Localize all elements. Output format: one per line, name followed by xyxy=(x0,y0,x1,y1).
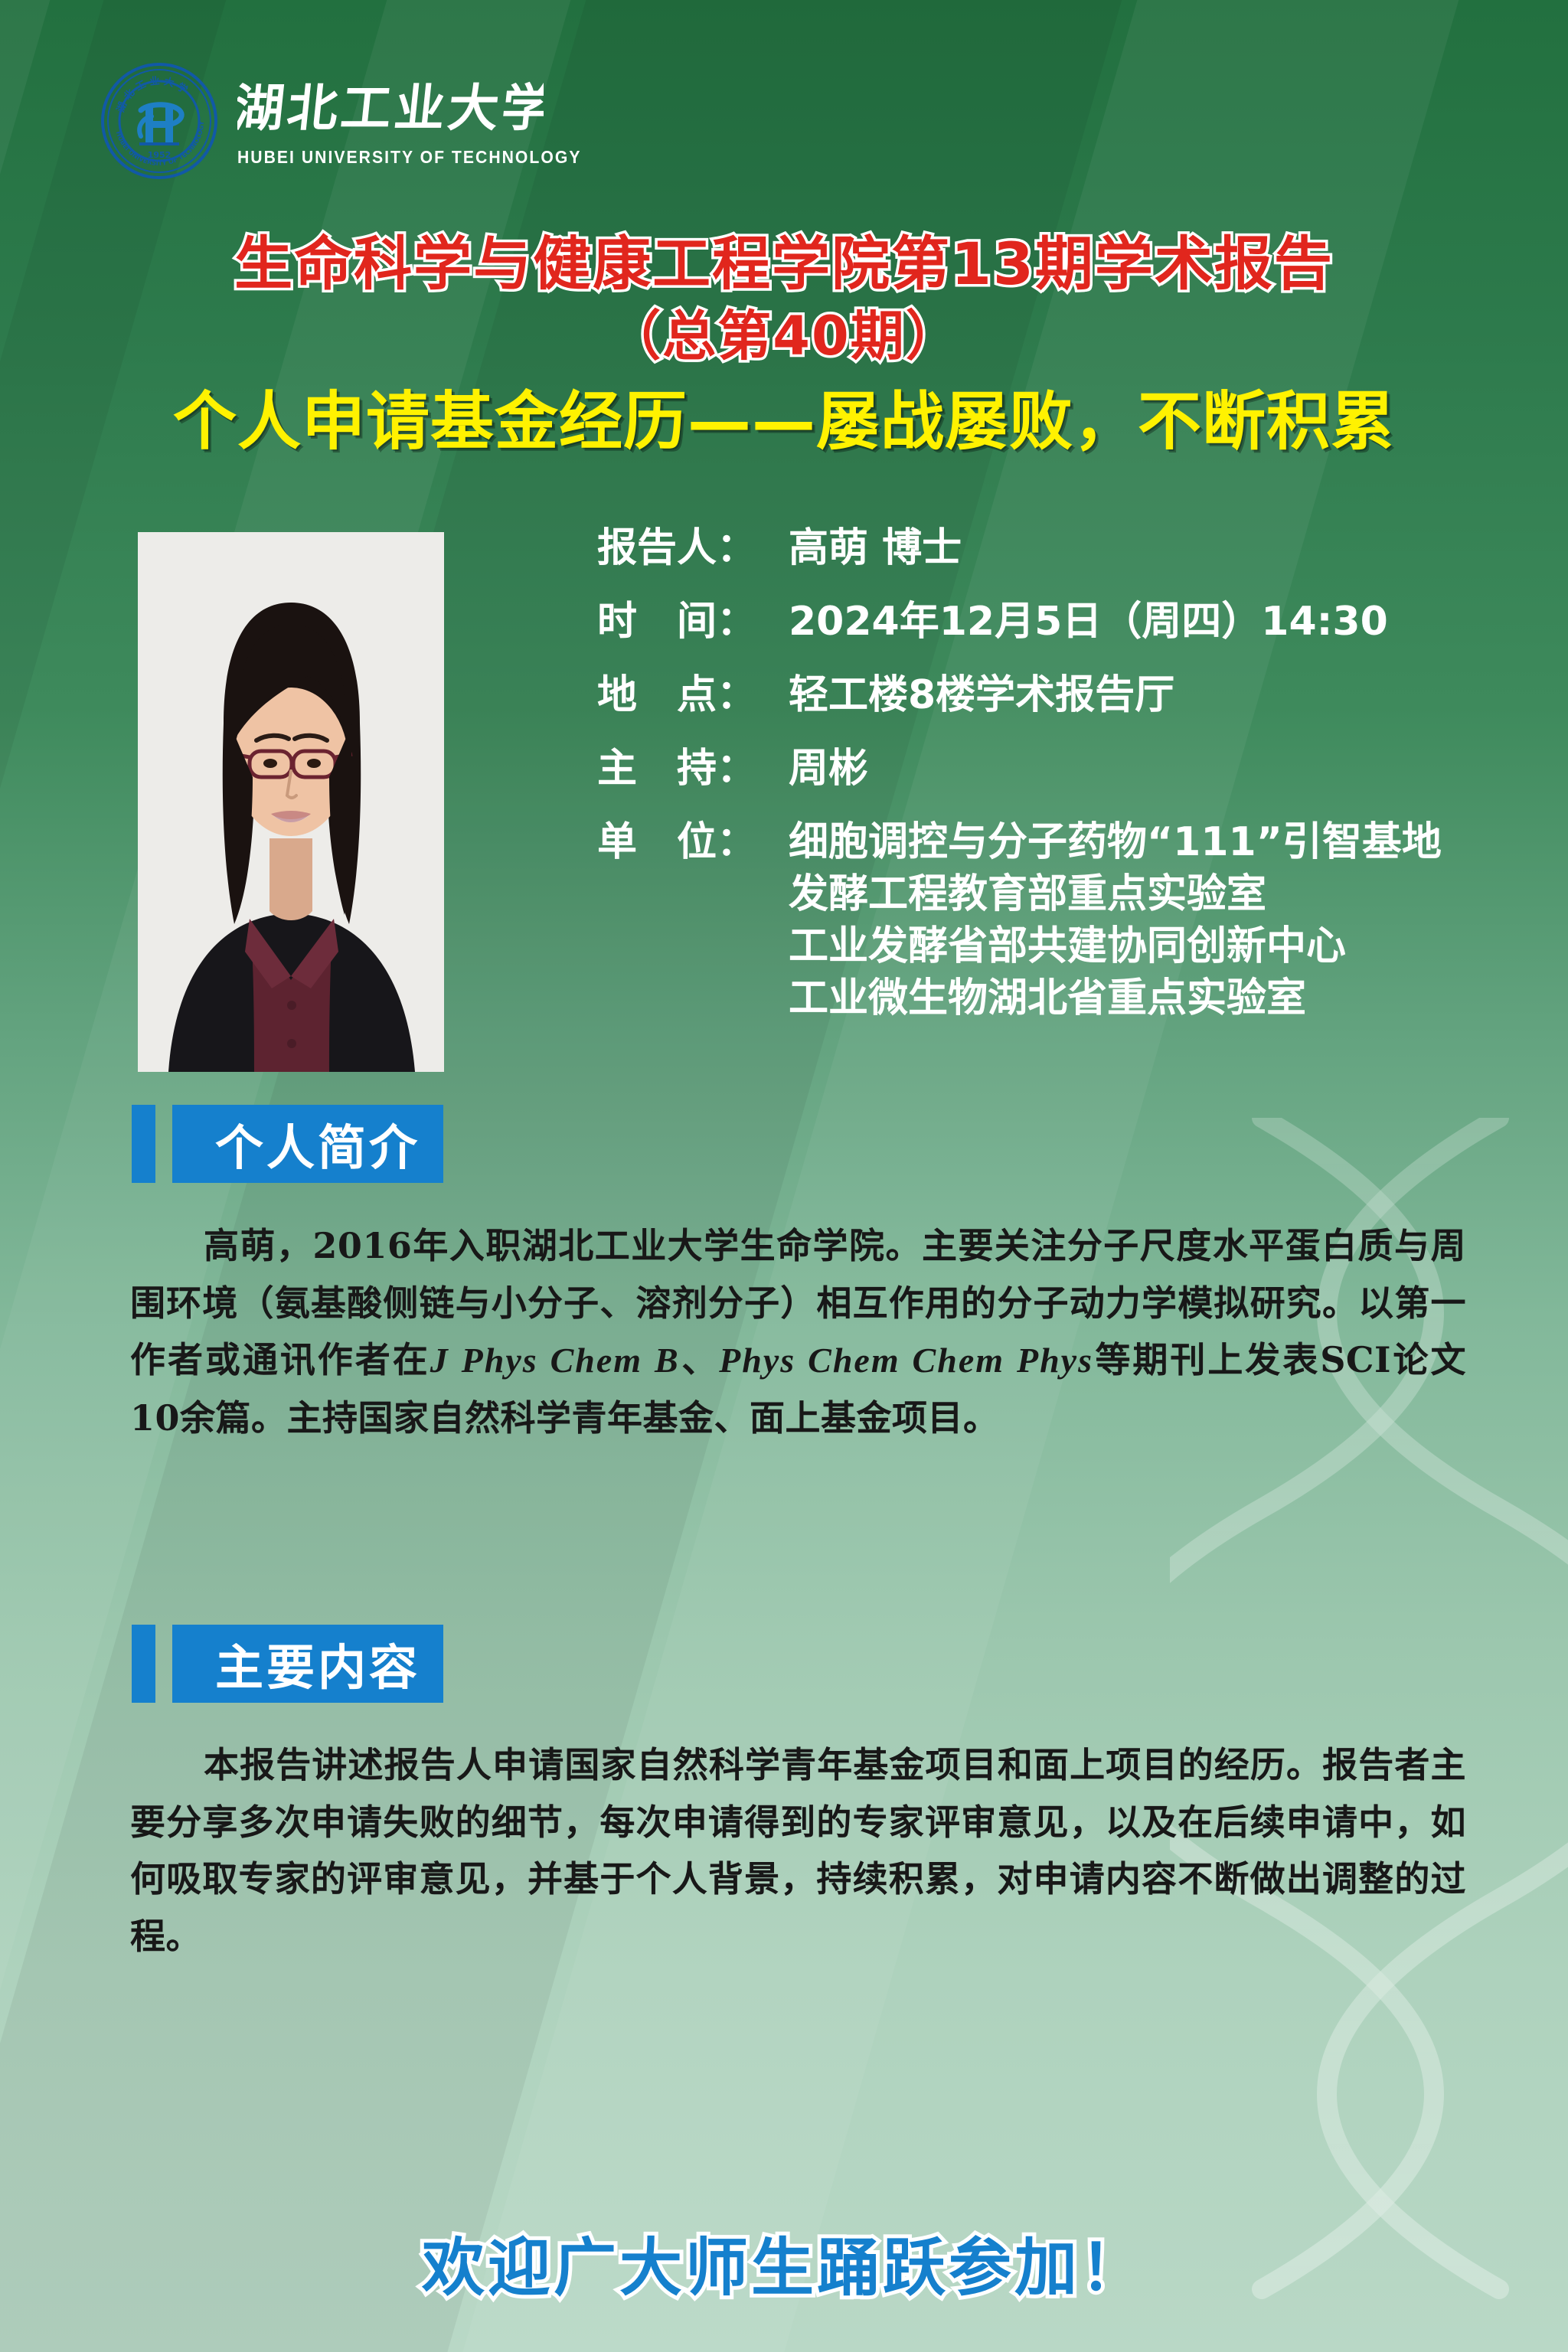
university-logo: 1952 HUBEI UNIVERSITY OF TECHNOLOGY 湖 北 … xyxy=(101,63,612,179)
event-details: 报告人： 高萌 博士 时 间： 2024年12月5日（周四）14:30 地 点：… xyxy=(597,528,1554,1018)
hubei-university-seal-icon: 1952 HUBEI UNIVERSITY OF TECHNOLOGY 湖 北 … xyxy=(101,63,217,179)
title-line-series: 生命科学与健康工程学院第13期学术报告 xyxy=(0,230,1568,299)
info-label-speaker: 报告人： xyxy=(597,528,789,568)
section-heading-box: 主要内容 xyxy=(172,1625,443,1703)
affiliation-line-1: 细胞调控与分子药物“111”引智基地 xyxy=(789,819,1442,865)
section-heading-content-label: 主要内容 xyxy=(215,1629,420,1699)
info-label-host: 主 持： xyxy=(597,749,789,789)
speaker-portrait xyxy=(138,532,444,1072)
title-line-issue: （总第40期） xyxy=(0,303,1568,371)
info-value-affiliation: 细胞调控与分子药物“111”引智基地 发酵工程教育部重点实验室 工业发酵省部共建… xyxy=(789,822,1554,1018)
poster-title-group: 生命科学与健康工程学院第13期学术报告 （总第40期） 个人申请基金经历——屡战… xyxy=(0,230,1568,460)
info-label-time: 时 间： xyxy=(597,602,789,642)
info-label-affiliation: 单 位： xyxy=(597,822,789,862)
footer-welcome: 欢迎广大师生踊跃参加！ xyxy=(0,2216,1568,2308)
section-heading-content: 主要内容 xyxy=(132,1625,443,1703)
info-value-host: 周彬 xyxy=(789,749,1554,789)
bio-paragraph: 高萌，2016年入职湖北工业大学生命学院。主要关注分子尺度水平蛋白质与周围环境（… xyxy=(130,1217,1466,1446)
info-row-time: 时 间： 2024年12月5日（周四）14:30 xyxy=(597,602,1554,642)
university-wordmark: 湖北工业大学 HUBEI UNIVERSITY OF TECHNOLOGY xyxy=(237,75,612,168)
info-value-location: 轻工楼8楼学术报告厅 xyxy=(789,675,1554,715)
bio-journal-2: Phys Chem Chem Phys xyxy=(719,1341,1093,1380)
affiliation-line-3: 工业发酵省部共建协同创新中心 xyxy=(789,926,1554,966)
poster-canvas: 1952 HUBEI UNIVERSITY OF TECHNOLOGY 湖 北 … xyxy=(0,0,1568,2352)
affiliation-line-4: 工业微生物湖北省重点实验室 xyxy=(789,978,1554,1018)
section-accent-bar xyxy=(132,1625,155,1703)
affiliation-line-2: 发酵工程教育部重点实验室 xyxy=(789,874,1554,914)
footer-welcome-text: 欢迎广大师生踊跃参加！ xyxy=(422,2232,1146,2305)
info-row-host: 主 持： 周彬 xyxy=(597,749,1554,789)
content-paragraph: 本报告讲述报告人申请国家自然科学青年基金项目和面上项目的经历。报告者主要分享多次… xyxy=(130,1736,1466,1965)
university-name-cn-icon: 湖北工业大学 xyxy=(237,75,544,141)
info-value-time: 2024年12月5日（周四）14:30 xyxy=(789,602,1554,642)
section-heading-bio: 个人简介 xyxy=(132,1105,443,1183)
info-row-speaker: 报告人： 高萌 博士 xyxy=(597,528,1554,568)
bio-text-part2: 、 xyxy=(680,1339,719,1380)
title-line-topic: 个人申请基金经历——屡战屡败，不断积累 xyxy=(0,384,1568,460)
info-row-affiliation: 单 位： 细胞调控与分子药物“111”引智基地 发酵工程教育部重点实验室 工业发… xyxy=(597,822,1554,1018)
svg-text:湖北工业大学: 湖北工业大学 xyxy=(237,79,544,138)
info-row-location: 地 点： 轻工楼8楼学术报告厅 xyxy=(597,675,1554,715)
bio-journal-1: J Phys Chem B xyxy=(430,1341,680,1380)
info-label-location: 地 点： xyxy=(597,675,789,715)
info-value-speaker: 高萌 博士 xyxy=(789,528,1554,568)
section-heading-bio-label: 个人简介 xyxy=(215,1109,420,1179)
section-accent-bar xyxy=(132,1105,155,1183)
university-name-en: HUBEI UNIVERSITY OF TECHNOLOGY xyxy=(237,147,581,168)
section-heading-box: 个人简介 xyxy=(172,1105,443,1183)
